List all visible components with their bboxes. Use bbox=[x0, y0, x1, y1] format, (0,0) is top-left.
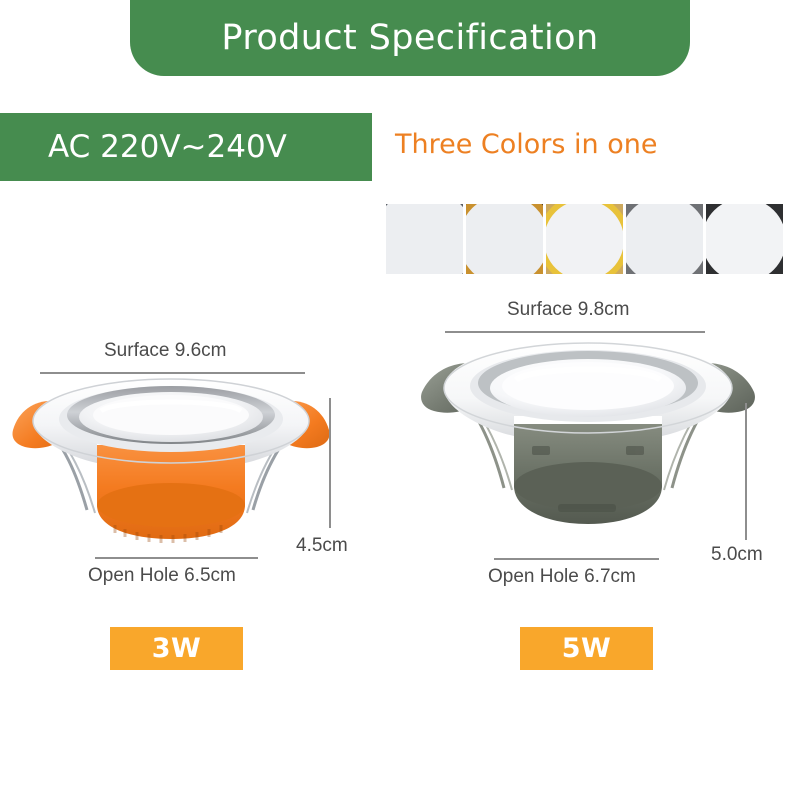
product-5w: Surface 9.8cm bbox=[400, 0, 800, 700]
height-dim-line-5w bbox=[745, 403, 747, 540]
watt-badge-5w: 5W bbox=[520, 627, 653, 670]
open-hole-dim-line-5w bbox=[494, 558, 659, 560]
downlight-3w-illustration bbox=[5, 375, 345, 575]
watt-label-5w: 5W bbox=[562, 633, 612, 664]
open-hole-label-3w: Open Hole 6.5cm bbox=[88, 565, 236, 587]
height-label-5w: 5.0cm bbox=[711, 544, 763, 566]
height-dim-line-3w bbox=[329, 398, 331, 528]
product-3w: Surface 9.6cm bbox=[0, 0, 380, 700]
open-hole-dim-line-3w bbox=[95, 557, 258, 559]
height-label-3w: 4.5cm bbox=[296, 535, 348, 557]
surface-dim-line-3w bbox=[40, 372, 305, 374]
surface-label-5w: Surface 9.8cm bbox=[507, 299, 630, 321]
watt-label-3w: 3W bbox=[152, 633, 202, 664]
open-hole-label-5w: Open Hole 6.7cm bbox=[488, 566, 636, 588]
surface-label-3w: Surface 9.6cm bbox=[104, 340, 227, 362]
product-specification-page: Product Specification AC 220V~240V Three… bbox=[0, 0, 800, 800]
downlight-5w-illustration bbox=[408, 338, 768, 558]
surface-dim-line-5w bbox=[445, 331, 705, 333]
watt-badge-3w: 3W bbox=[110, 627, 243, 670]
